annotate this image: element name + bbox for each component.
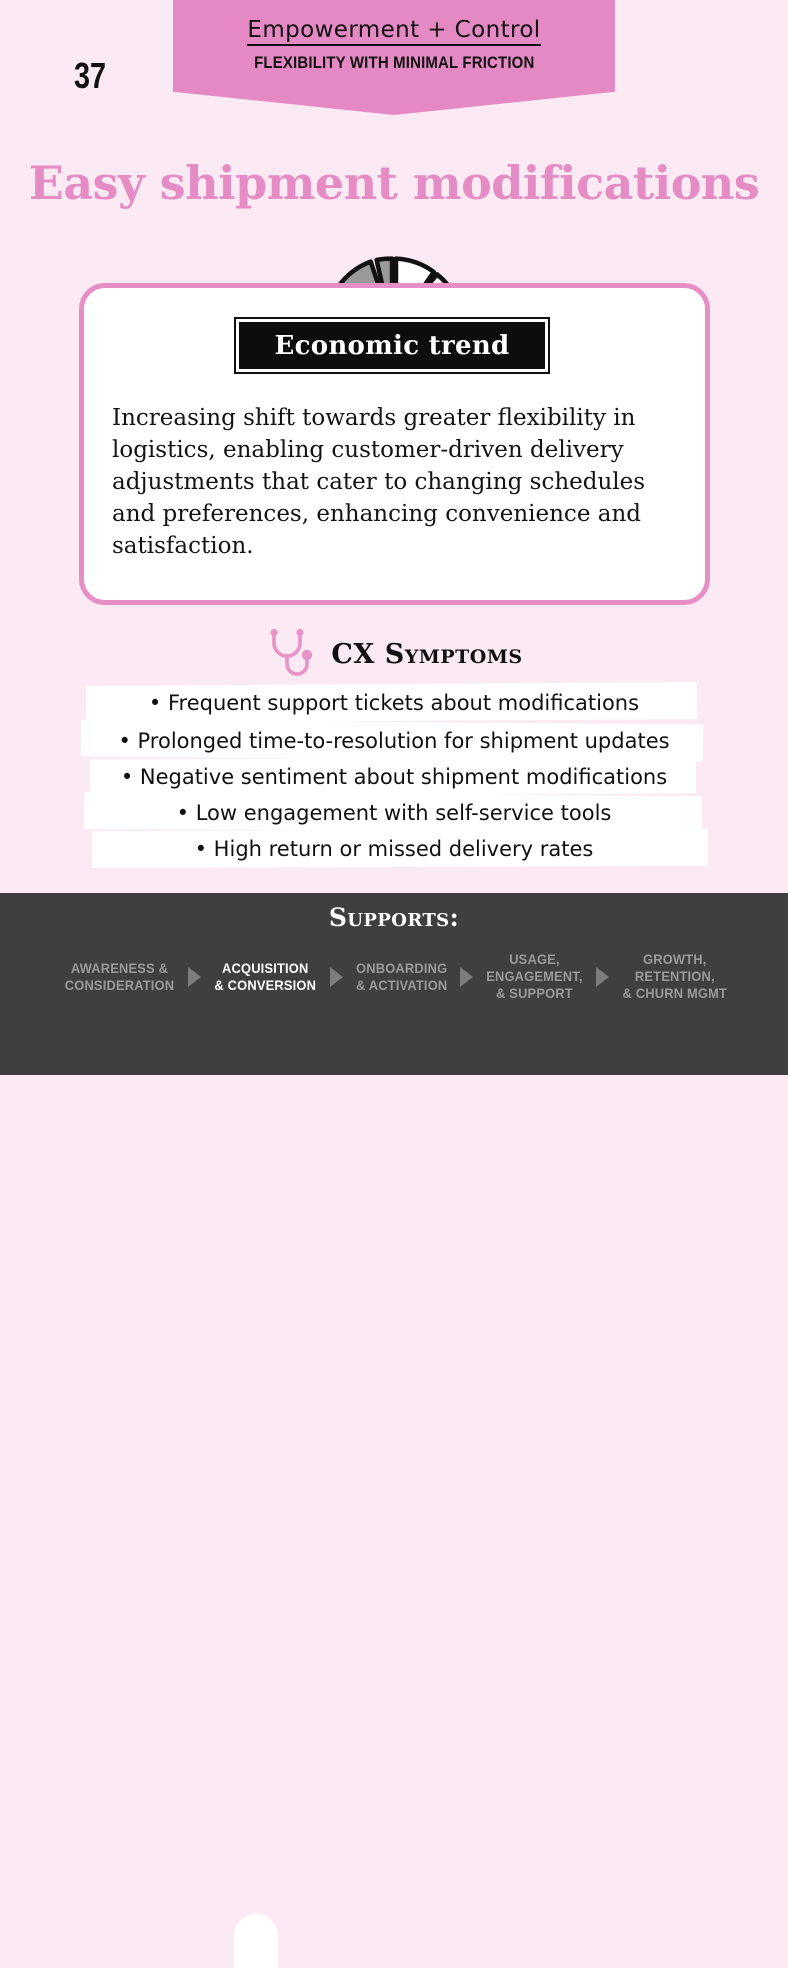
stage-growth-retention-churn[interactable]: GROWTH, RETENTION, & CHURN MGMT (623, 951, 728, 1002)
stage-line: ENGAGEMENT, (486, 968, 582, 985)
stage-line: USAGE, (486, 951, 582, 968)
stethoscope-icon (265, 628, 321, 680)
stethoscope-earpiece-right (297, 629, 304, 636)
list-item: • Low engagement with self-service tools (0, 794, 788, 832)
banner-title: Empowerment + Control (247, 18, 540, 46)
chevron-right-icon (188, 967, 201, 987)
chevron-right-icon (330, 967, 343, 987)
stage-usage-engagement-support[interactable]: USAGE, ENGAGEMENT, & SUPPORT (486, 951, 582, 1002)
stage-line: ACQUISITION (215, 960, 317, 977)
stage-line: & ACTIVATION (356, 977, 447, 994)
stage-line: ONBOARDING (356, 960, 447, 977)
list-item: • Prolonged time-to-resolution for shipm… (0, 722, 788, 760)
stethoscope-earpiece-left (271, 629, 278, 636)
lifecycle-stages: AWARENESS & CONSIDERATION ACQUISITION & … (60, 951, 732, 1002)
chevron-right-icon (460, 967, 473, 987)
list-item-label: • Negative sentiment about shipment modi… (121, 765, 667, 789)
stage-onboarding-activation[interactable]: ONBOARDING & ACTIVATION (356, 960, 447, 994)
list-item-label: • High return or missed delivery rates (195, 837, 594, 861)
bottom-marker-pill (234, 1914, 278, 1968)
stethoscope-chestpiece (302, 650, 312, 660)
trend-description: Increasing shift towards greater flexibi… (112, 402, 672, 562)
trend-title-box: Economic trend (236, 319, 548, 372)
cx-symptoms-header: CX Symptoms (0, 628, 788, 680)
list-item: • High return or missed delivery rates (0, 830, 788, 868)
supports-label: Supports: (0, 903, 788, 932)
list-item: • Frequent support tickets about modific… (0, 684, 788, 722)
cx-symptoms-title: CX Symptoms (331, 639, 522, 670)
stage-acquisition-conversion[interactable]: ACQUISITION & CONVERSION (215, 960, 317, 994)
stage-line: & CHURN MGMT (623, 985, 728, 1002)
page-number: 37 (74, 55, 106, 97)
stage-line: CONSIDERATION (65, 977, 174, 994)
chevron-right-icon (596, 967, 609, 987)
stage-line: & SUPPORT (486, 985, 582, 1002)
stage-line: GROWTH, (623, 951, 728, 968)
stage-line: & CONVERSION (215, 977, 317, 994)
trend-title: Economic trend (274, 331, 509, 361)
stage-line: AWARENESS & (65, 960, 174, 977)
banner-subtitle: FLEXIBILITY WITH MINIMAL FRICTION (254, 53, 534, 73)
footer-lifecycle-bar: Supports: AWARENESS & CONSIDERATION ACQU… (0, 893, 788, 1075)
list-item: • Negative sentiment about shipment modi… (0, 758, 788, 796)
stage-awareness-consideration[interactable]: AWARENESS & CONSIDERATION (65, 960, 174, 994)
page-title: Easy shipment modifications (0, 156, 788, 210)
list-item-label: • Low engagement with self-service tools (177, 801, 612, 825)
stage-line: RETENTION, (623, 968, 728, 985)
header-banner: Empowerment + Control FLEXIBILITY WITH M… (173, 0, 615, 115)
cx-symptoms-list: • Frequent support tickets about modific… (0, 684, 788, 880)
list-item-label: • Frequent support tickets about modific… (149, 691, 639, 715)
list-item-label: • Prolonged time-to-resolution for shipm… (118, 729, 669, 753)
